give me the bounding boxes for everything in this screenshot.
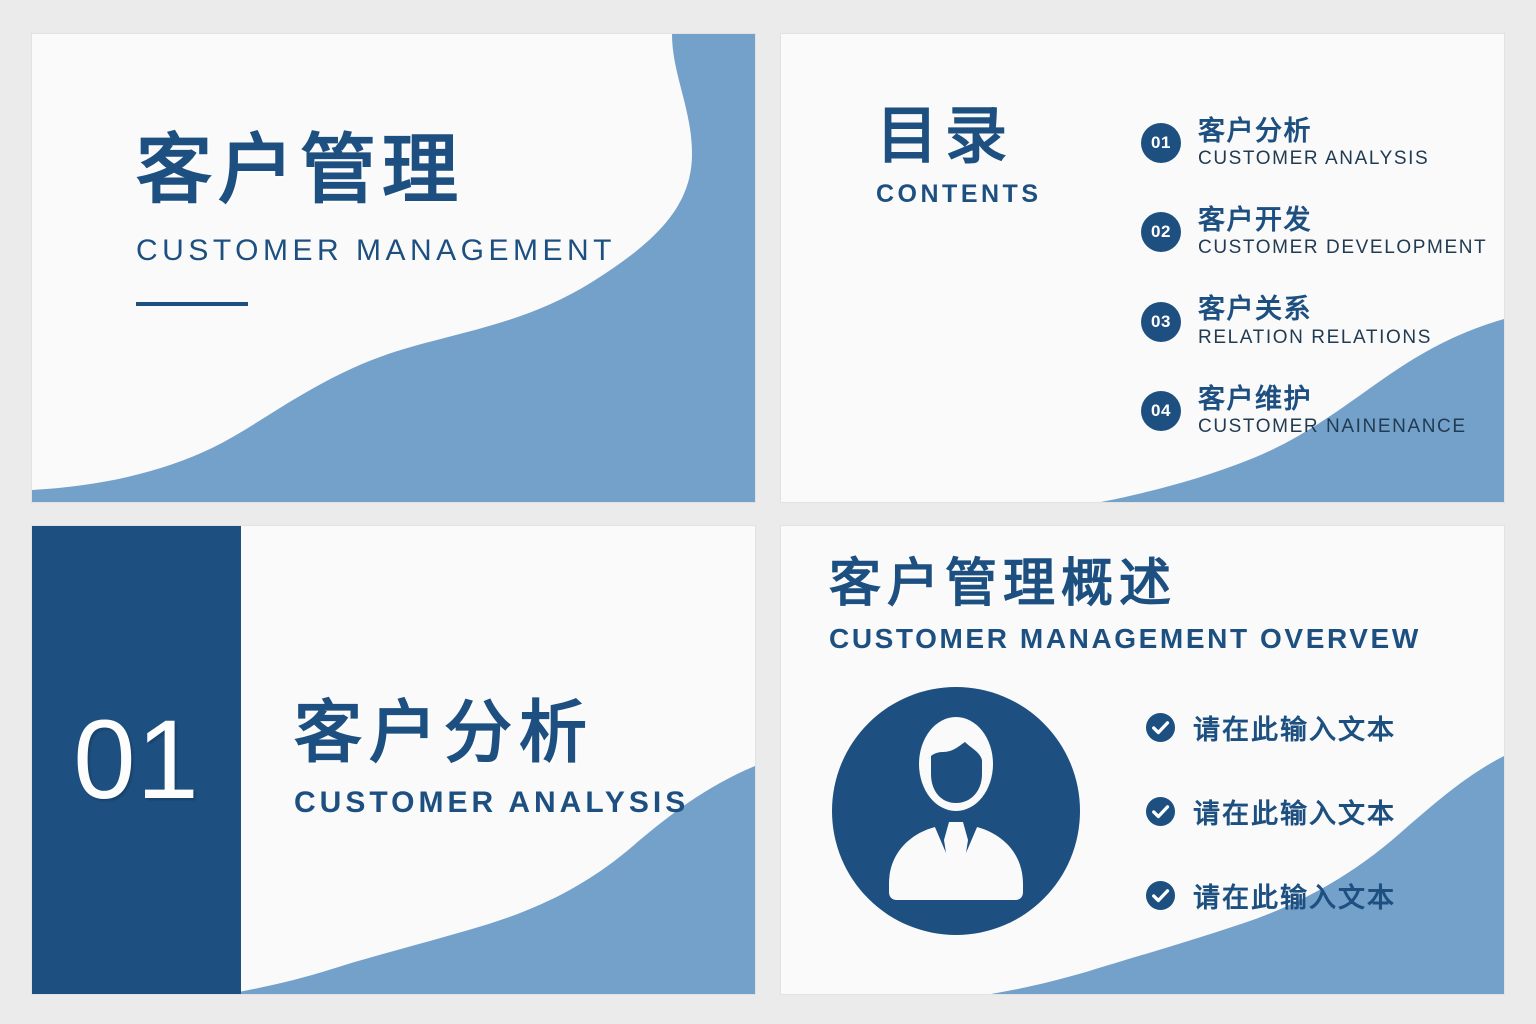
section-text-block: 客户分析 CUSTOMER ANALYSIS: [294, 697, 689, 820]
cover-title-cn: 客户管理: [136, 130, 755, 212]
contents-item-04[interactable]: 04 客户维护 CUSTOMER NAINENANCE: [1141, 384, 1487, 438]
contents-item-en: CUSTOMER NAINENANCE: [1198, 416, 1467, 438]
overview-bullet-list: 请在此输入文本 请在此输入文本 请在此输入文本: [1145, 708, 1396, 915]
contents-item-01[interactable]: 01 客户分析 CUSTOMER ANALYSIS: [1141, 116, 1487, 170]
contents-item-03[interactable]: 03 客户关系 RELATION RELATIONS: [1141, 294, 1487, 348]
person-avatar-icon: [831, 686, 1081, 936]
contents-item-en: RELATION RELATIONS: [1198, 327, 1432, 349]
contents-item-en: CUSTOMER ANALYSIS: [1198, 148, 1429, 170]
contents-number-badge: 01: [1141, 123, 1181, 163]
check-circle-icon: [1145, 712, 1176, 743]
contents-heading-block: 目录 CONTENTS: [876, 106, 1042, 209]
contents-heading-cn: 目录: [876, 106, 1042, 168]
contents-list: 01 客户分析 CUSTOMER ANALYSIS 02 客户开发 CUSTOM…: [1141, 116, 1487, 438]
contents-item-en: CUSTOMER DEVELOPMENT: [1198, 237, 1487, 259]
contents-item-02[interactable]: 02 客户开发 CUSTOMER DEVELOPMENT: [1141, 205, 1487, 259]
overview-bullet-text: 请在此输入文本: [1193, 792, 1396, 831]
slide-deck: 客户管理 CUSTOMER MANAGEMENT 目录 CONTENTS 01 …: [0, 0, 1536, 1024]
slide-overview[interactable]: 客户管理概述 CUSTOMER MANAGEMENT OVERVEW: [781, 526, 1504, 994]
contents-item-cn: 客户开发: [1198, 205, 1487, 235]
overview-title-cn: 客户管理概述: [829, 556, 1421, 613]
overview-bullet-text: 请在此输入文本: [1193, 708, 1396, 747]
cover-text-block: 客户管理 CUSTOMER MANAGEMENT: [32, 34, 755, 306]
overview-title-en: CUSTOMER MANAGEMENT OVERVEW: [829, 623, 1421, 655]
contents-item-text: 客户维护 CUSTOMER NAINENANCE: [1198, 384, 1467, 438]
cover-divider-rule: [136, 302, 248, 306]
contents-item-text: 客户开发 CUSTOMER DEVELOPMENT: [1198, 205, 1487, 259]
check-circle-icon: [1145, 796, 1176, 827]
contents-item-cn: 客户维护: [1198, 384, 1467, 414]
slide-cover[interactable]: 客户管理 CUSTOMER MANAGEMENT: [32, 34, 755, 502]
slide-contents[interactable]: 目录 CONTENTS 01 客户分析 CUSTOMER ANALYSIS 02…: [781, 34, 1504, 502]
overview-bullet-3[interactable]: 请在此输入文本: [1145, 876, 1396, 915]
contents-number-badge: 02: [1141, 212, 1181, 252]
check-circle-icon: [1145, 880, 1176, 911]
contents-item-cn: 客户关系: [1198, 294, 1432, 324]
slide-section-divider[interactable]: 01 客户分析 CUSTOMER ANALYSIS: [32, 526, 755, 994]
contents-number-badge: 04: [1141, 391, 1181, 431]
contents-heading-en: CONTENTS: [876, 180, 1042, 209]
contents-item-cn: 客户分析: [1198, 116, 1429, 146]
contents-item-text: 客户分析 CUSTOMER ANALYSIS: [1198, 116, 1429, 170]
overview-bullet-text: 请在此输入文本: [1193, 876, 1396, 915]
overview-bullet-1[interactable]: 请在此输入文本: [1145, 708, 1396, 747]
overview-heading-block: 客户管理概述 CUSTOMER MANAGEMENT OVERVEW: [829, 556, 1421, 655]
contents-number-badge: 03: [1141, 302, 1181, 342]
section-number: 01: [73, 704, 200, 816]
section-title-cn: 客户分析: [294, 697, 689, 770]
section-number-bar: 01: [32, 526, 241, 994]
section-title-en: CUSTOMER ANALYSIS: [294, 786, 689, 820]
overview-bullet-2[interactable]: 请在此输入文本: [1145, 792, 1396, 831]
cover-title-en: CUSTOMER MANAGEMENT: [136, 234, 755, 268]
contents-item-text: 客户关系 RELATION RELATIONS: [1198, 294, 1432, 348]
